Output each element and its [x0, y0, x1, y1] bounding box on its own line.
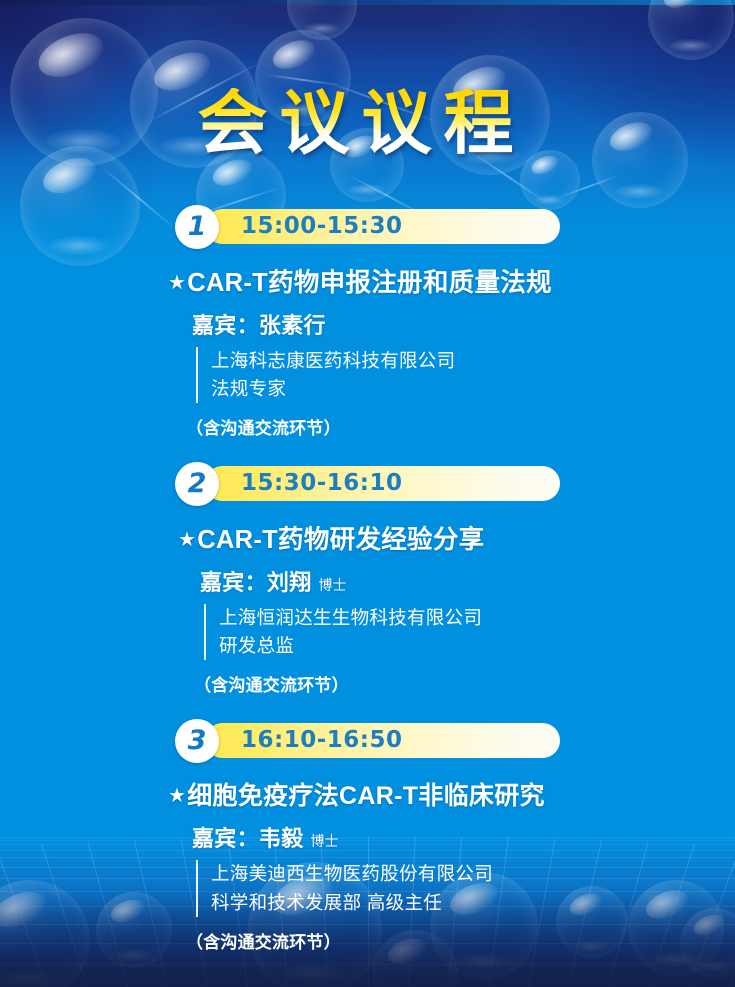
item-number-badge: 1: [175, 205, 219, 249]
item-number-badge: 3: [175, 719, 219, 763]
agenda-item-header: 15:00-15:30 1: [175, 205, 735, 249]
agenda-item-note: （含沟通交流环节）: [186, 928, 735, 953]
agenda-item-header: 15:30-16:10 2: [175, 462, 735, 506]
agenda-item-guest: 嘉宾：刘翔博士: [200, 565, 735, 597]
bubble-decoration: [330, 128, 404, 202]
bubble-decoration: [130, 40, 258, 168]
item-number: 1: [188, 213, 207, 240]
agenda-item-affiliation: 上海美迪西生物医药股份有限公司 科学和技术发展部 高级主任: [196, 860, 735, 916]
bubble-decoration: [592, 112, 688, 208]
agenda-item-note: （含沟通交流环节）: [186, 414, 735, 439]
bubble-decoration: [520, 150, 580, 210]
time-text: 16:10-16:50: [241, 729, 402, 752]
agenda-item: 15:00-15:30 1 ★CAR-T药物申报注册和质量法规 嘉宾：张素行 上…: [0, 205, 735, 439]
agenda-item-affiliation: 上海科志康医药科技有限公司 法规专家: [196, 347, 735, 403]
agenda-item-guest: 嘉宾：韦毅博士: [192, 821, 735, 853]
time-pill: 15:00-15:30: [205, 209, 560, 244]
topic-text: CAR-T药物申报注册和质量法规: [187, 269, 552, 297]
topic-text: 细胞免疫疗法CAR-T非临床研究: [187, 782, 545, 810]
guest-name: 刘翔: [267, 570, 312, 595]
item-number: 2: [188, 470, 207, 497]
agenda-item-guest: 嘉宾：张素行: [192, 308, 735, 340]
time-text: 15:30-16:10: [241, 472, 402, 495]
conference-agenda-poster: 会议议程 15:00-15:30 1 ★CAR-T药物申报注册和质量法规 嘉宾：…: [0, 0, 735, 987]
position-text: 科学和技术发展部 高级主任: [211, 889, 735, 917]
agenda-item-topic: ★CAR-T药物研发经验分享: [178, 519, 735, 556]
background-top-edge: [0, 0, 735, 5]
guest-label: 嘉宾：: [200, 570, 267, 595]
agenda-item-affiliation: 上海恒润达生生物科技有限公司 研发总监: [204, 604, 735, 660]
organization-text: 上海美迪西生物医药股份有限公司: [211, 860, 735, 888]
time-pill: 15:30-16:10: [205, 466, 560, 501]
agenda-item: 16:10-16:50 3 ★细胞免疫疗法CAR-T非临床研究 嘉宾：韦毅博士 …: [0, 719, 735, 952]
organization-text: 上海科志康医药科技有限公司: [211, 347, 735, 375]
agenda-item: 15:30-16:10 2 ★CAR-T药物研发经验分享 嘉宾：刘翔博士 上海恒…: [0, 462, 735, 696]
guest-label: 嘉宾：: [192, 313, 259, 338]
guest-degree: 博士: [311, 833, 339, 849]
position-text: 法规专家: [211, 375, 735, 403]
agenda-list: 15:00-15:30 1 ★CAR-T药物申报注册和质量法规 嘉宾：张素行 上…: [0, 205, 735, 953]
star-icon: ★: [178, 529, 196, 551]
position-text: 研发总监: [219, 632, 735, 660]
agenda-item-note: （含沟通交流环节）: [194, 671, 735, 696]
topic-text: CAR-T药物研发经验分享: [197, 526, 484, 554]
guest-label: 嘉宾：: [192, 826, 259, 851]
item-number-badge: 2: [175, 462, 219, 506]
guest-degree: 博士: [319, 577, 347, 593]
time-pill: 16:10-16:50: [205, 723, 560, 758]
agenda-item-topic: ★细胞免疫疗法CAR-T非临床研究: [168, 776, 735, 812]
organization-text: 上海恒润达生生物科技有限公司: [219, 604, 735, 632]
guest-name: 韦毅: [259, 826, 304, 851]
agenda-item-topic: ★CAR-T药物申报注册和质量法规: [168, 262, 735, 299]
star-icon: ★: [168, 272, 186, 294]
item-number: 3: [188, 727, 207, 754]
time-text: 15:00-15:30: [241, 215, 402, 238]
star-icon: ★: [168, 785, 186, 807]
agenda-item-header: 16:10-16:50 3: [175, 719, 735, 763]
guest-name: 张素行: [259, 313, 326, 338]
